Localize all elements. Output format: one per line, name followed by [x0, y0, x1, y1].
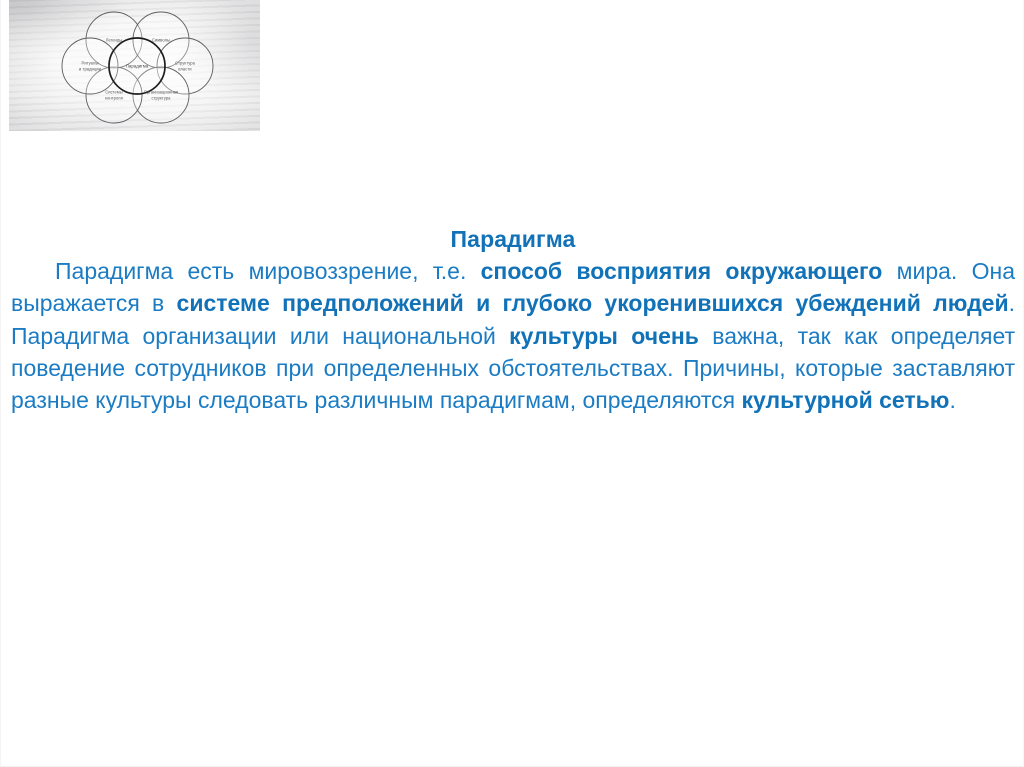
ring-label-org-structure-line1: Организационная — [144, 90, 179, 95]
ring-label-legends: Легенды — [106, 38, 123, 43]
ring-label-paradigm: Парадигма — [126, 64, 149, 69]
text-run-5: культуры очень — [509, 323, 699, 349]
body-text: Парадигма есть мировоззрение, т.е. спосо… — [11, 255, 1015, 416]
slide-canvas: Легенды Символы Структура власти Организ… — [0, 0, 1024, 767]
text-run-3: системе предположений и глубоко укоренив… — [177, 290, 1009, 316]
ring-label-power-structure-line2: власти — [178, 67, 191, 72]
ring-label-power-structure-line1: Структура — [175, 61, 196, 66]
ring-label-control-systems-line2: контроля — [105, 96, 123, 101]
cultural-web-figure: Легенды Символы Структура власти Организ… — [9, 0, 260, 131]
cultural-web-diagram: Легенды Символы Структура власти Организ… — [9, 0, 260, 131]
text-run-8: . — [949, 387, 955, 413]
text-run-0: Парадигма есть мировоззрение, т.е. — [55, 258, 481, 284]
ring-label-rituals-line1: Ритуалы — [82, 61, 99, 66]
paradigm-paragraph: Парадигма есть мировоззрение, т.е. спосо… — [11, 255, 1015, 416]
text-run-1: способ восприятия окружающего — [481, 258, 883, 284]
ring-label-rituals-line2: и традиции — [79, 67, 101, 72]
ring-label-org-structure-line2: структура — [152, 96, 172, 101]
ring-label-control-systems-line1: Системы — [105, 90, 123, 95]
ring-label-symbols: Символы — [152, 38, 170, 43]
text-run-7: культурной сетью — [742, 387, 950, 413]
page-title: Парадигма — [1, 224, 1024, 254]
